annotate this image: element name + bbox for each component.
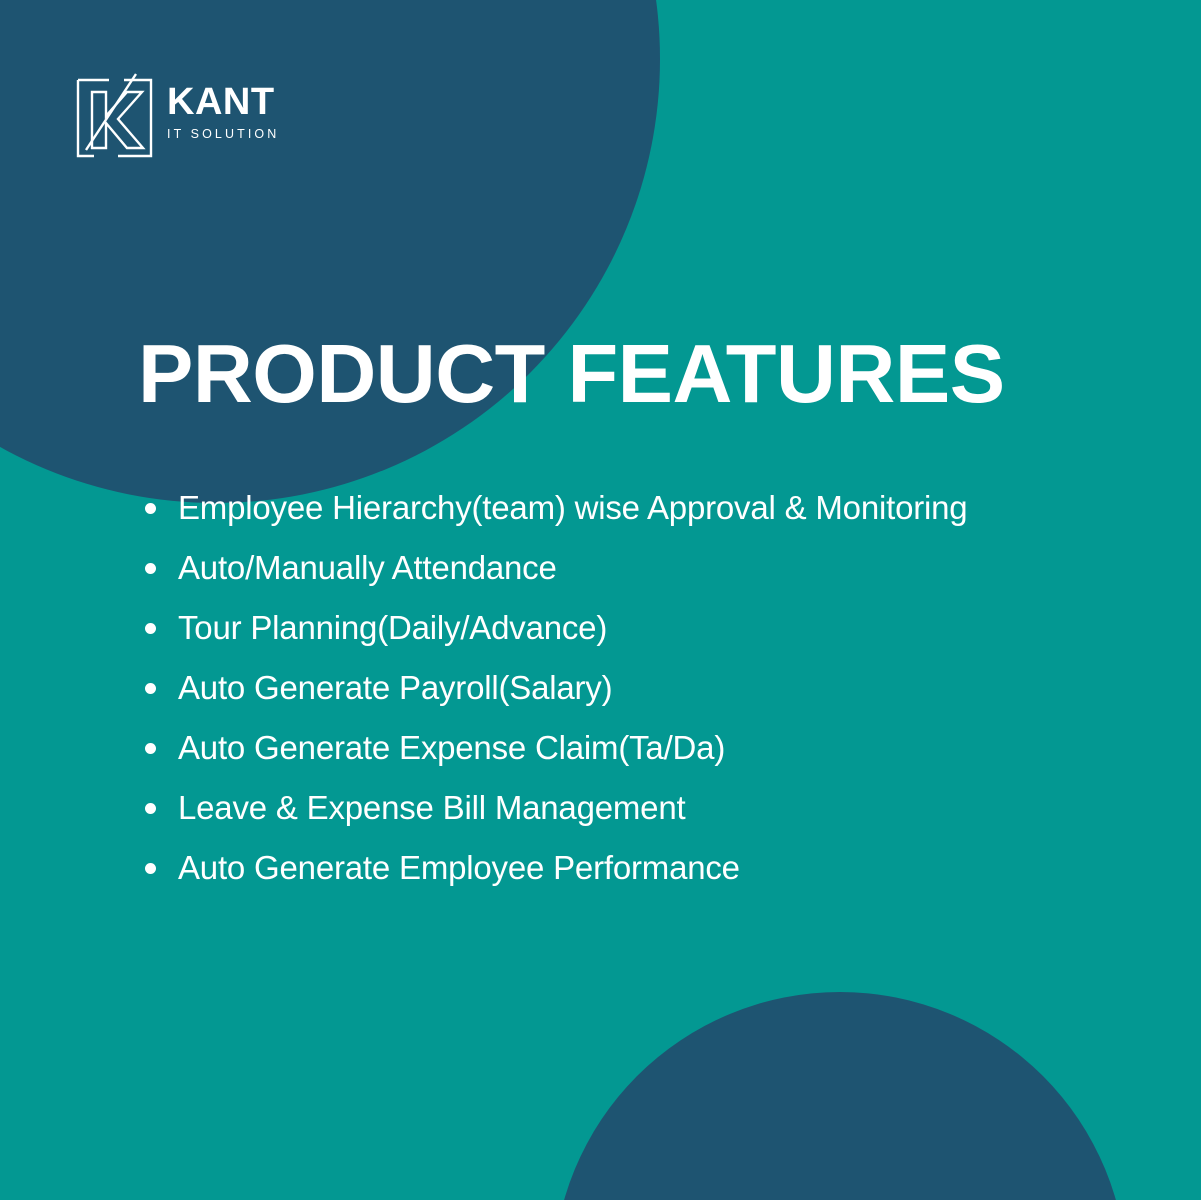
bullet-dot-icon bbox=[145, 863, 156, 874]
list-item: Auto/Manually Attendance bbox=[140, 538, 1170, 598]
list-item: Auto Generate Expense Claim(Ta/Da) bbox=[140, 718, 1170, 778]
brand-name: KANT bbox=[167, 83, 307, 121]
bullet-dot-icon bbox=[145, 803, 156, 814]
brand-tagline: IT SOLUTION bbox=[167, 127, 307, 141]
feature-label: Employee Hierarchy(team) wise Approval &… bbox=[178, 489, 967, 526]
list-item: Leave & Expense Bill Management bbox=[140, 778, 1170, 838]
bullet-dot-icon bbox=[145, 683, 156, 694]
page-title: PRODUCT FEATURES bbox=[138, 326, 1005, 422]
bullet-dot-icon bbox=[145, 743, 156, 754]
feature-label: Auto Generate Payroll(Salary) bbox=[178, 669, 612, 706]
bullet-dot-icon bbox=[145, 623, 156, 634]
bullet-dot-icon bbox=[145, 503, 156, 514]
feature-label: Auto Generate Expense Claim(Ta/Da) bbox=[178, 729, 725, 766]
brand-logo: KANT IT SOLUTION bbox=[72, 72, 302, 164]
brand-wordmark: KANT IT SOLUTION bbox=[167, 83, 307, 141]
bottom-right-decorative-circle bbox=[553, 992, 1127, 1200]
bullet-dot-icon bbox=[145, 563, 156, 574]
feature-list: Employee Hierarchy(team) wise Approval &… bbox=[140, 478, 1170, 898]
list-item: Tour Planning(Daily/Advance) bbox=[140, 598, 1170, 658]
feature-label: Leave & Expense Bill Management bbox=[178, 789, 685, 826]
list-item: Employee Hierarchy(team) wise Approval &… bbox=[140, 478, 1170, 538]
feature-label: Auto Generate Employee Performance bbox=[178, 849, 740, 886]
feature-label: Auto/Manually Attendance bbox=[178, 549, 557, 586]
k-monogram-icon bbox=[72, 72, 158, 164]
list-item: Auto Generate Employee Performance bbox=[140, 838, 1170, 898]
feature-label: Tour Planning(Daily/Advance) bbox=[178, 609, 607, 646]
list-item: Auto Generate Payroll(Salary) bbox=[140, 658, 1170, 718]
product-features-poster: KANT IT SOLUTION PRODUCT FEATURES Employ… bbox=[0, 0, 1201, 1200]
